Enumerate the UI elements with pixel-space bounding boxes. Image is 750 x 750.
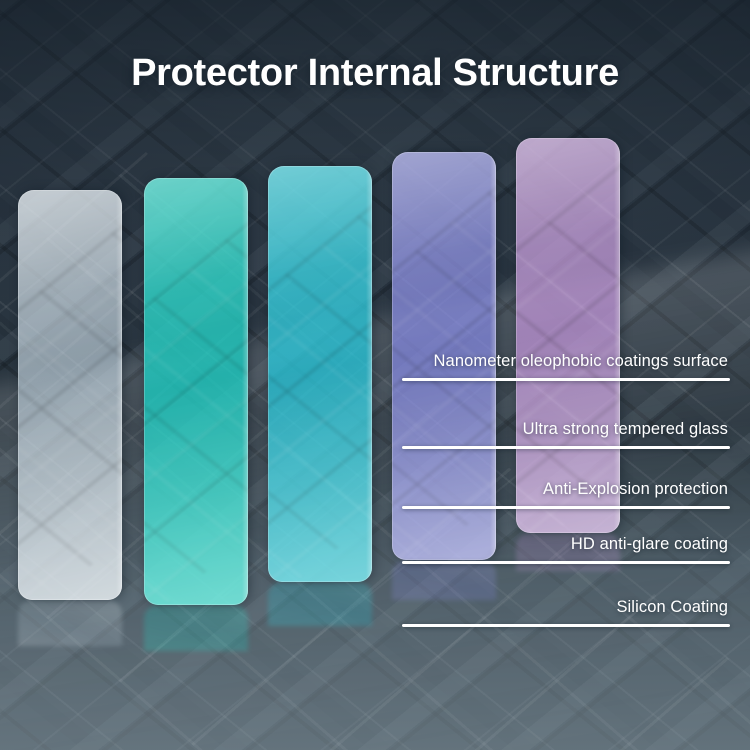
callout-4: HD anti-glare coating bbox=[402, 535, 730, 564]
callout-4-label: HD anti-glare coating bbox=[402, 535, 730, 554]
callout-4-rule bbox=[402, 561, 730, 564]
callout-5-rule bbox=[402, 624, 730, 627]
callout-3-label: Anti-Explosion protection bbox=[402, 480, 730, 499]
product-infographic: Protector Internal Structure bbox=[0, 0, 750, 750]
callout-list: Nanometer oleophobic coatings surface Ul… bbox=[0, 0, 750, 750]
callout-2-label: Ultra strong tempered glass bbox=[402, 420, 730, 439]
callout-3-rule bbox=[402, 506, 730, 509]
callout-3: Anti-Explosion protection bbox=[402, 480, 730, 509]
callout-2-rule bbox=[402, 446, 730, 449]
callout-1: Nanometer oleophobic coatings surface bbox=[402, 352, 730, 381]
callout-1-label: Nanometer oleophobic coatings surface bbox=[402, 352, 730, 371]
callout-1-rule bbox=[402, 378, 730, 381]
callout-5-label: Silicon Coating bbox=[402, 598, 730, 617]
callout-2: Ultra strong tempered glass bbox=[402, 420, 730, 449]
callout-5: Silicon Coating bbox=[402, 598, 730, 627]
